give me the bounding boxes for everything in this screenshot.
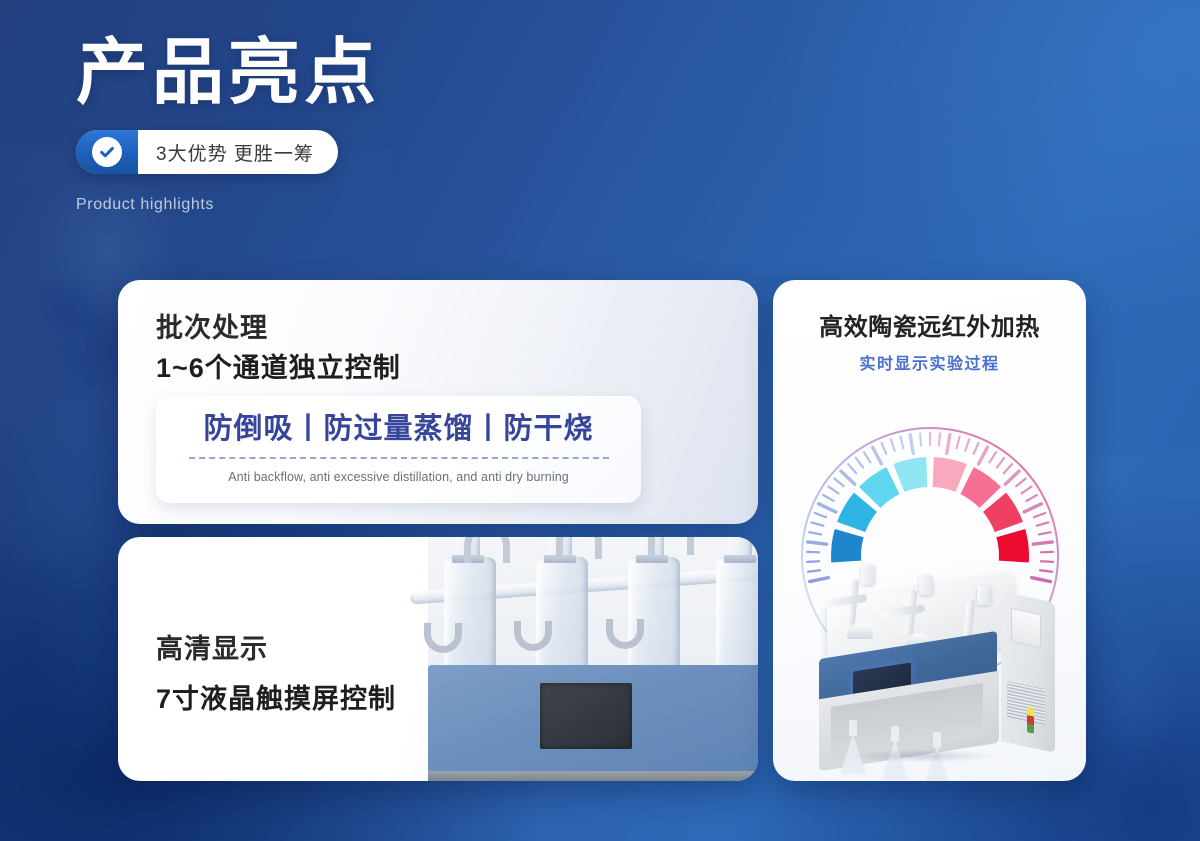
- glassware-group: [428, 537, 758, 677]
- glass-tube: [464, 537, 510, 563]
- gauge-segment: [893, 457, 927, 492]
- gauge-segment: [960, 467, 1001, 508]
- protection-features-en: Anti backflow, anti excessive distillati…: [228, 470, 569, 484]
- card-ceramic-heating[interactable]: 高效陶瓷远红外加热 实时显示实验过程: [773, 280, 1086, 781]
- glass-flask: [716, 557, 758, 677]
- protection-features-cn: 防倒吸丨防过量蒸馏丨防干烧: [203, 405, 593, 447]
- gauge-segment: [933, 457, 967, 492]
- distillation-instrument-photo: [805, 535, 1055, 770]
- card-heating-heading: 高效陶瓷远红外加热: [773, 307, 1086, 342]
- card-display-text: 高清显示 7寸液晶触摸屏控制: [156, 627, 396, 716]
- glass-flask: [444, 557, 496, 677]
- page-subtitle-en: Product highlights: [76, 196, 696, 214]
- check-circle-icon: [76, 130, 138, 174]
- card-batch-processing[interactable]: 批次处理 1~6个通道独立控制 防倒吸丨防过量蒸馏丨防干烧 Anti backf…: [118, 280, 758, 524]
- lcd-touchscreen: [540, 683, 632, 749]
- advantage-badge-label: 3大优势 更胜一筹: [138, 130, 338, 174]
- page-title: 产品亮点: [76, 36, 696, 108]
- gauge-segment: [859, 467, 900, 508]
- card-batch-heading-2: 1~6个通道独立控制: [156, 346, 401, 385]
- card-hd-display[interactable]: 高清显示 7寸液晶触摸屏控制: [118, 537, 758, 781]
- check-circle-inner: [92, 137, 122, 167]
- sample-cap: [861, 565, 875, 585]
- glass-flask: [536, 557, 588, 677]
- poster-header: 产品亮点 3大优势 更胜一筹 Product highlights: [76, 36, 696, 214]
- sample-cap: [977, 585, 991, 605]
- dashed-divider: [189, 457, 609, 459]
- protection-features-panel: 防倒吸丨防过量蒸馏丨防干烧 Anti backflow, anti excess…: [156, 396, 641, 503]
- card-display-heading-2: 7寸液晶触摸屏控制: [156, 677, 396, 716]
- instrument-ground-shadow: [823, 747, 1023, 765]
- sample-cap: [919, 575, 933, 595]
- advantage-badge: 3大优势 更胜一筹: [76, 130, 338, 174]
- card-display-heading-1: 高清显示: [156, 627, 396, 666]
- flask-joint: [724, 555, 756, 563]
- instrument-base: [428, 771, 758, 781]
- status-indicator-light: [1027, 706, 1034, 733]
- card-batch-heading-1: 批次处理: [156, 306, 268, 345]
- instrument-side-panel: [1011, 608, 1041, 648]
- distillation-glassware-photo: [428, 537, 758, 781]
- flask-joint: [636, 555, 668, 563]
- poster-canvas: 200ml APPROX 150 100 产品亮点 3大优势 更胜一筹 Prod…: [0, 0, 1200, 841]
- card-heating-subtitle: 实时显示实验过程: [773, 350, 1086, 374]
- glass-tube: [556, 537, 602, 559]
- glass-tube: [648, 537, 694, 555]
- glass-flask: [628, 557, 680, 677]
